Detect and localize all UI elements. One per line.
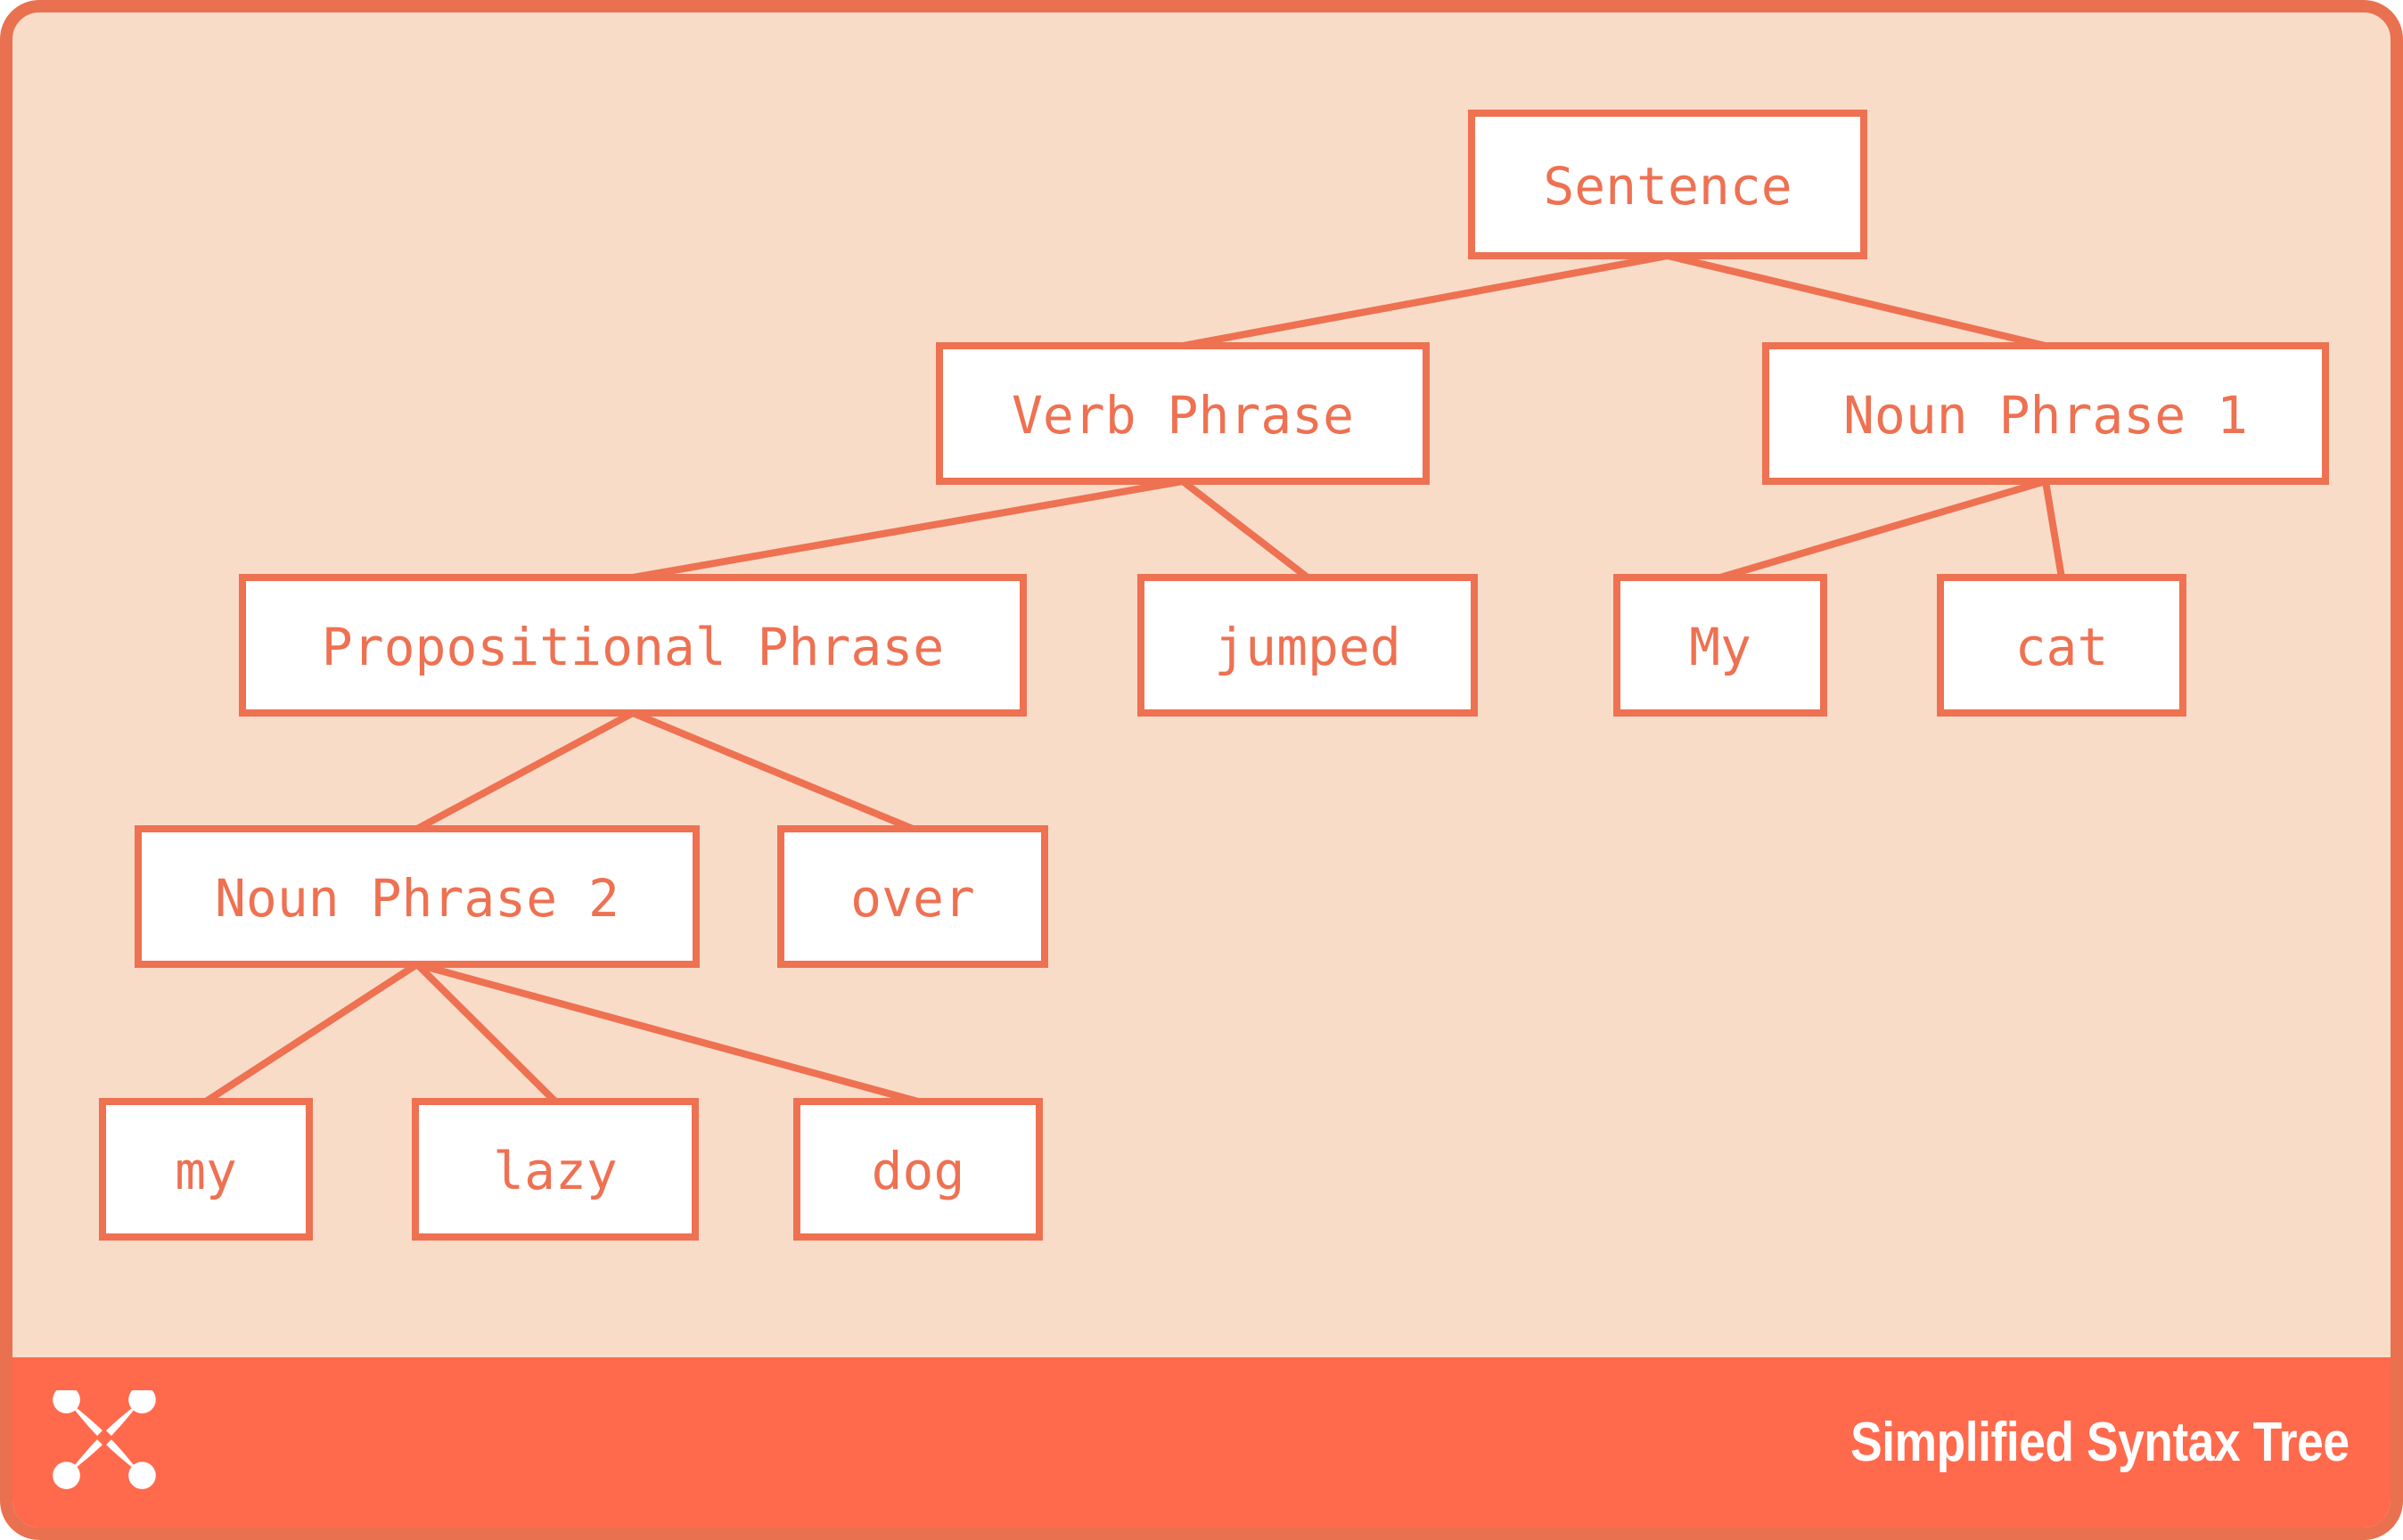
tree-edge [633,713,913,829]
tree-edge [417,713,633,829]
node-label: Verb Phrase [1012,385,1354,446]
tree-node-sentence[interactable]: Sentence [1472,113,1864,256]
diagram-card: SentenceVerb PhraseNoun Phrase 1Proposit… [0,0,2403,1540]
node-label: Propositional Phrase [322,617,944,677]
node-label: over [850,868,975,929]
tree-node-np1[interactable]: Noun Phrase 1 [1766,346,2325,481]
tree-edge [1183,481,1308,577]
tree-node-dog[interactable]: dog [797,1102,1039,1237]
footer-bar: Simplified Syntax Tree [12,1357,2391,1528]
tree-edge [206,964,417,1102]
tree-edge [633,481,1183,577]
tree-edge [2046,481,2062,577]
tree-node-my-det[interactable]: My [1617,577,1824,713]
node-label: Noun Phrase 1 [1843,385,2248,446]
tree-node-over[interactable]: over [781,829,1045,964]
tree-node-cat[interactable]: cat [1940,577,2183,713]
tree-node-jumped[interactable]: jumped [1141,577,1474,713]
syntax-tree-svg: SentenceVerb PhraseNoun Phrase 1Proposit… [12,12,2391,1357]
tree-canvas: SentenceVerb PhraseNoun Phrase 1Proposit… [12,12,2391,1357]
footer-title: Simplified Syntax Tree [1851,1411,2350,1474]
node-label: lazy [493,1141,618,1201]
node-label: jumped [1214,617,1401,677]
tree-node-pp[interactable]: Propositional Phrase [242,577,1023,713]
node-layer: SentenceVerb PhraseNoun Phrase 1Proposit… [103,113,2325,1237]
tree-edge [417,964,918,1102]
node-label: My [1689,617,1751,677]
tree-edge [1720,481,2046,577]
tree-node-vp[interactable]: Verb Phrase [939,346,1426,481]
node-label: my [175,1141,237,1201]
node-label: cat [2015,617,2109,677]
tree-node-np2[interactable]: Noun Phrase 2 [138,829,696,964]
node-label: Sentence [1543,156,1792,217]
tree-node-my-poss[interactable]: my [103,1102,309,1237]
tree-edge [1668,256,2046,346]
node-label: dog [872,1141,965,1201]
tree-node-lazy[interactable]: lazy [415,1102,695,1237]
four-point-star-logo [52,1390,157,1495]
node-label: Noun Phrase 2 [215,868,619,929]
tree-edge [1183,256,1668,346]
